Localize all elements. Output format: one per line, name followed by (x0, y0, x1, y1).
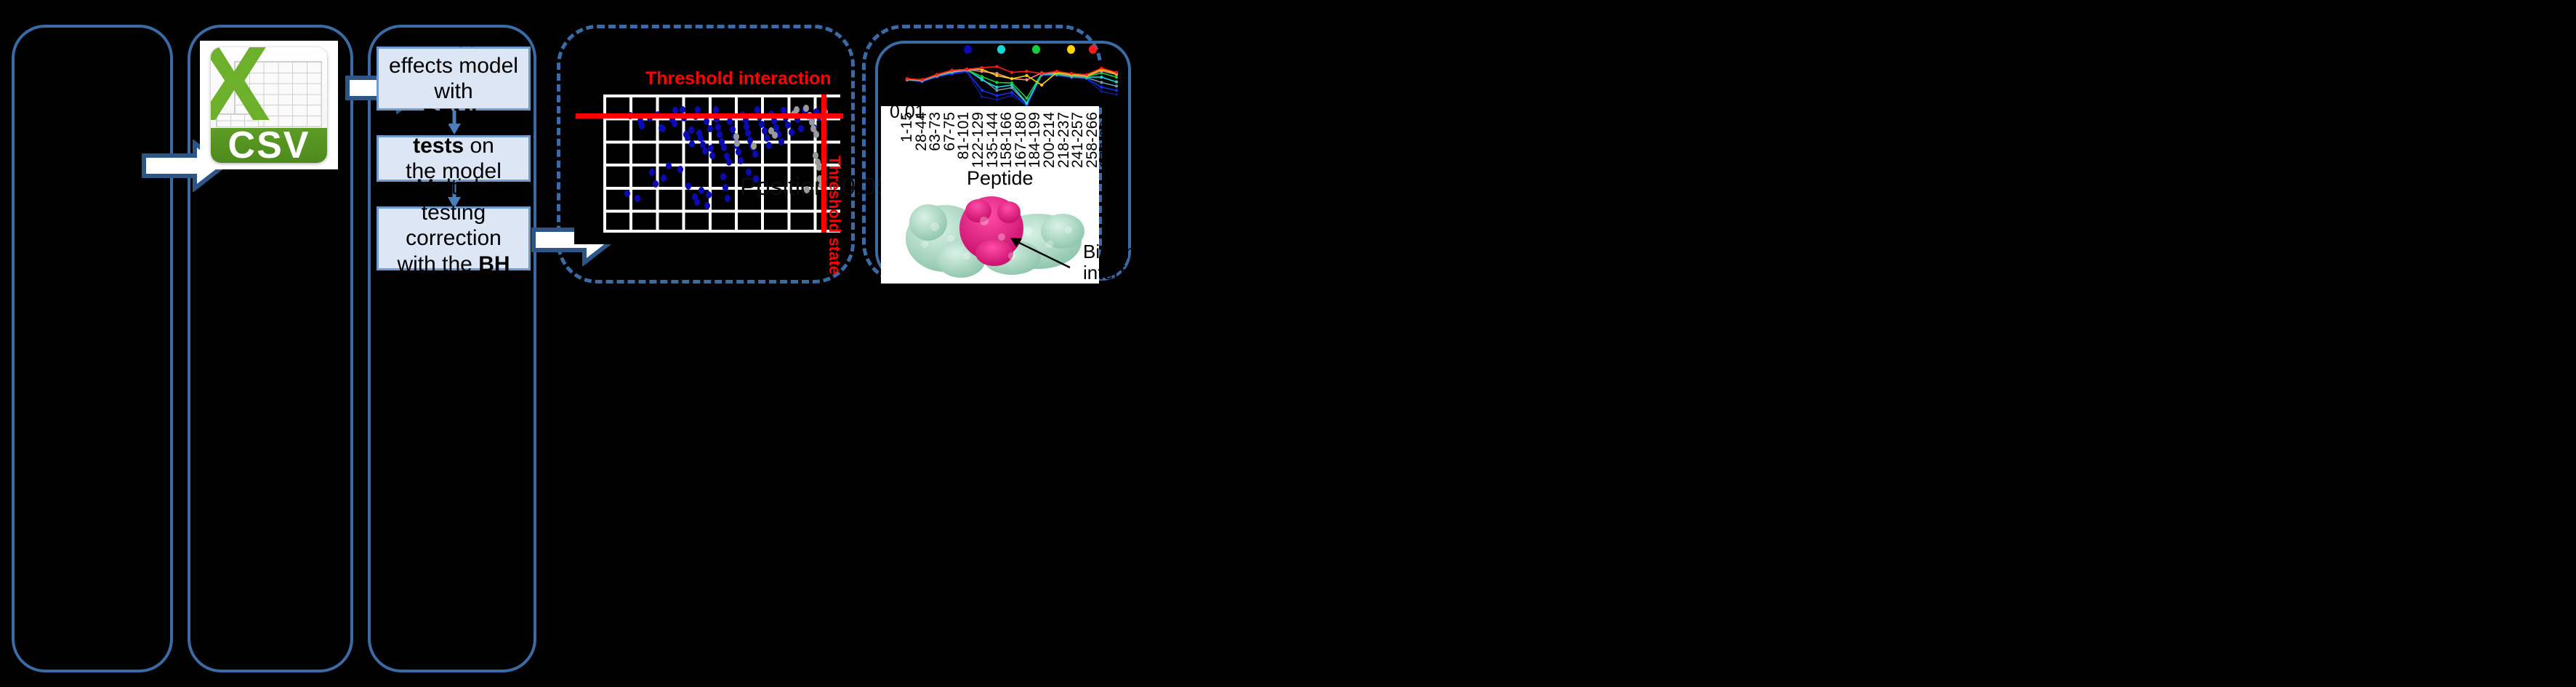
scatter-point (672, 120, 677, 127)
peptide-series-point (1025, 97, 1028, 100)
scatter-point (661, 174, 667, 182)
peptide-x-tick: 277-284 (1098, 112, 1115, 168)
threshold-interaction-line (576, 113, 843, 118)
peptide-legend-dot (1067, 45, 1075, 54)
scatter-point (773, 124, 779, 132)
peptide-legend (888, 36, 1121, 58)
peptide-series-point (1025, 102, 1028, 105)
scatter-point (680, 106, 685, 113)
scatter-point (685, 182, 691, 190)
peptide-series-point (1055, 70, 1058, 73)
binding-interface-line2: interface (1083, 262, 1156, 284)
peptide-series-point (1010, 81, 1013, 84)
scatter-point (666, 162, 672, 169)
peptide-series-point (1100, 76, 1103, 79)
scatter-point (720, 173, 726, 180)
scatter-point (694, 198, 700, 206)
peptide-series-point (1115, 76, 1118, 79)
scatter-point (709, 152, 715, 159)
peptide-series-point (935, 73, 938, 76)
peptide-series-point (1100, 86, 1103, 89)
peptide-series-point (1010, 71, 1013, 74)
scatter-point (660, 125, 666, 132)
scatter-point (803, 105, 809, 112)
peptide-series-point (1010, 91, 1013, 94)
scatter-point (745, 129, 751, 137)
scatter-point (766, 142, 772, 149)
peptide-series-point (995, 94, 998, 97)
peptide-series-point (1010, 77, 1013, 80)
peptide-series-point (1040, 72, 1043, 75)
scatter-point (677, 166, 683, 173)
scatter-point (753, 175, 759, 182)
excel-x-glyph: X (214, 49, 254, 114)
scatter-point (717, 131, 723, 138)
scatter-point (706, 191, 712, 198)
scatter-point (730, 126, 736, 133)
scatter-point (723, 184, 728, 191)
scatter-point (789, 129, 794, 136)
peptide-series-point (981, 75, 983, 78)
scatter-point (727, 118, 733, 125)
csv-file-icon: X CSV (200, 41, 338, 169)
peptide-series-point (951, 69, 954, 72)
peptide-series-point (1115, 93, 1118, 96)
peptide-series-point (995, 81, 998, 84)
scatter-point (778, 138, 784, 145)
peptide-series-point (1010, 94, 1013, 97)
scatter-plot: Threshold interaction Position: 0.05 0.0… (574, 63, 840, 244)
scatter-point (708, 145, 714, 152)
scatter-point (798, 125, 804, 132)
binding-interface-callout: Binding interface (1083, 241, 1156, 284)
scatter-point (794, 106, 800, 113)
scatter-point (813, 152, 818, 159)
peptide-series-point (1025, 79, 1028, 81)
scatter-point (699, 187, 704, 194)
scatter-point (764, 134, 770, 142)
scatter-point (813, 131, 819, 138)
peptide-series-point (906, 77, 909, 80)
peptide-series-point (995, 74, 998, 77)
scatter-point (736, 148, 741, 156)
scatter-point (746, 169, 752, 176)
peptide-series-point (1115, 71, 1118, 74)
scatter-point (721, 144, 727, 151)
process-box-model[interactable]: Fit a linear mixed- effects model with R… (377, 47, 531, 111)
scatter-point (704, 118, 709, 125)
peptide-series-point (981, 79, 983, 81)
scatter-point (744, 123, 749, 130)
scatter-point (734, 140, 740, 147)
scatter-point (707, 125, 713, 132)
peptide-legend-dot (1089, 45, 1097, 54)
peptide-series-point (1025, 74, 1028, 77)
scatter-point (751, 142, 757, 150)
scatter-point (635, 195, 640, 202)
scatter-point (759, 121, 765, 128)
peptide-series-point (1025, 70, 1028, 73)
scatter-plot-area: Position: 0.05 0.05 (603, 95, 840, 233)
scatter-point (804, 186, 810, 193)
scatter-point (649, 169, 655, 176)
binding-interface-line1: Binding (1083, 241, 1156, 262)
peptide-series-point (1100, 67, 1103, 70)
peptide-series-point (981, 66, 983, 69)
peptide-x-tick-labels: 1-1528-4463-7367-7581-101122-129135-1441… (894, 111, 1105, 163)
scatter-point (685, 134, 691, 141)
scatter-point (688, 126, 694, 134)
panel-stage-1 (12, 25, 173, 672)
scatter-point (698, 134, 704, 142)
peptide-series-point (920, 79, 923, 81)
csv-extension-label: CSV (211, 128, 327, 163)
scatter-point (689, 140, 695, 148)
scatter-point (624, 190, 630, 197)
scatter-point (702, 148, 708, 155)
peptide-series-point (1040, 84, 1043, 87)
workflow-diagram: X CSV Fit a linear mixed- effects model … (0, 0, 2576, 687)
scatter-point (762, 127, 768, 134)
threshold-state-label: Threshold state (825, 156, 844, 275)
peptide-line-chart (894, 61, 1121, 108)
peptide-series-point (1115, 81, 1118, 84)
peptide-legend-dot (997, 45, 1005, 54)
scatter-point (754, 106, 760, 113)
protein-structure-image (903, 186, 1084, 281)
peptide-series-point (995, 89, 998, 92)
peptide-series-point (1085, 73, 1088, 76)
peptide-series-point (1070, 72, 1073, 75)
peptide-figure: 0.01 1-1528-4463-7367-7581-101122-129135… (888, 36, 1121, 284)
scatter-point (653, 180, 659, 188)
scatter-point (704, 202, 710, 209)
scatter-point (639, 122, 645, 129)
peptide-legend-dot (1032, 45, 1040, 54)
peptide-series-point (1115, 89, 1118, 92)
peptide-series-point (995, 98, 998, 101)
peptide-series-point (965, 68, 968, 71)
process-box-bh[interactable]: Multiple testing correction with the BH … (377, 206, 531, 270)
peptide-series-point (995, 65, 998, 68)
peptide-series-point (981, 89, 983, 92)
peptide-series-point (1115, 84, 1118, 87)
scatter-point (695, 106, 701, 113)
peptide-series-point (1100, 90, 1103, 93)
peptide-series-point (1100, 81, 1103, 84)
peptide-legend-dot (964, 45, 972, 54)
scatter-point (726, 158, 732, 166)
csv-icon-body: X CSV (211, 47, 327, 163)
peptide-series-point (995, 86, 998, 89)
scatter-point (713, 106, 719, 113)
scatter-point (785, 121, 791, 129)
process-box-bh-text: Multiple testing correction with the BH … (386, 174, 521, 303)
scatter-point (738, 157, 744, 164)
scatter-point (715, 124, 721, 131)
scatter-point (725, 195, 730, 202)
peptide-series-point (981, 95, 983, 98)
scatter-point (752, 150, 758, 158)
threshold-interaction-label: Threshold interaction (645, 68, 832, 89)
